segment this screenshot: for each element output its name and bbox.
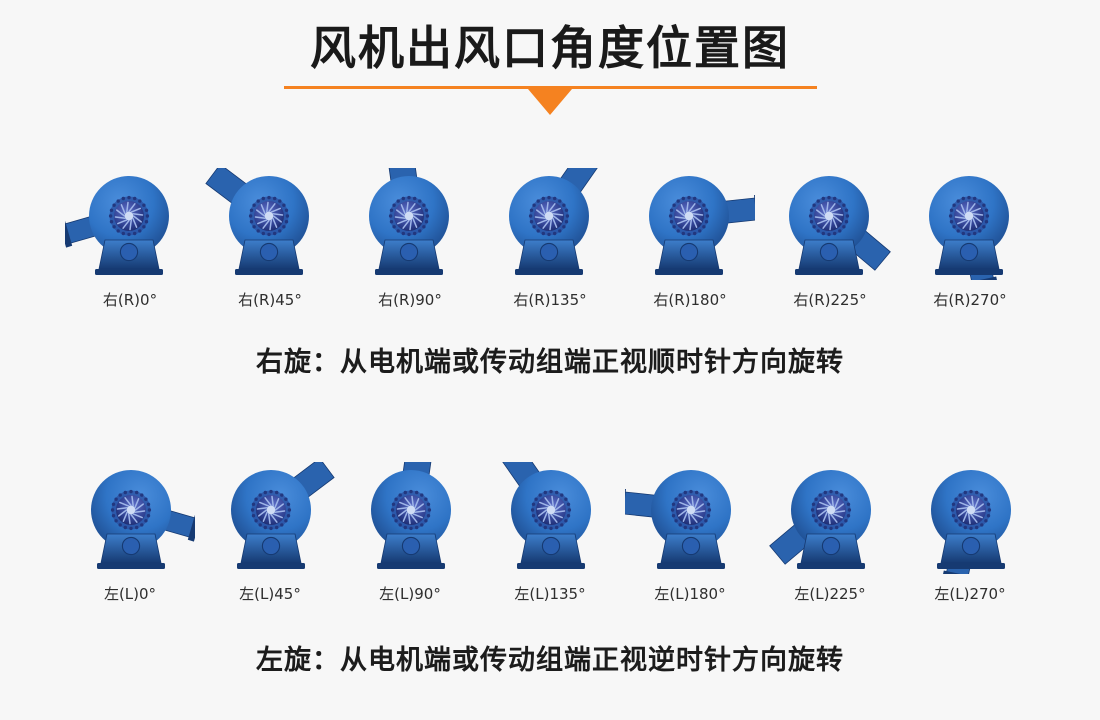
right-rotation-caption: 右旋：从电机端或传动组端正视顺时针方向旋转 <box>0 340 1100 379</box>
fan-angle-label: 左(L)270° <box>934 583 1005 604</box>
fan-cell-right-180: 右(R)180° <box>625 168 755 310</box>
left-rotation-section: 左(L)0° 左(L)45° <box>0 462 1100 677</box>
page-header: 风机出风口角度位置图 <box>0 22 1100 115</box>
fan-cell-left-0: 左(L)0° <box>65 462 195 604</box>
fan-angle-label: 右(R)135° <box>513 289 586 310</box>
centrifugal-fan-icon <box>485 168 615 280</box>
fan-angle-label: 左(L)45° <box>239 583 301 604</box>
fan-angle-label: 右(R)180° <box>653 289 726 310</box>
fan-angle-label: 左(L)225° <box>794 583 865 604</box>
fan-cell-left-270: 左(L)270° <box>905 462 1035 604</box>
fan-cell-right-45: 右(R)45° <box>205 168 335 310</box>
fan-angle-label: 右(R)45° <box>238 289 302 310</box>
left-rotation-fan-strip: 左(L)0° 左(L)45° <box>0 462 1100 604</box>
fan-angle-label: 左(L)180° <box>654 583 725 604</box>
right-rotation-section: 右(R)0° 右(R)45° <box>0 168 1100 379</box>
centrifugal-fan-icon <box>205 462 335 574</box>
fan-angle-label: 右(R)0° <box>103 289 157 310</box>
centrifugal-fan-icon <box>625 168 755 280</box>
centrifugal-fan-icon <box>765 462 895 574</box>
fan-cell-left-135: 左(L)135° <box>485 462 615 604</box>
centrifugal-fan-icon <box>905 168 1035 280</box>
left-rotation-caption: 左旋：从电机端或传动组端正视逆时针方向旋转 <box>0 638 1100 677</box>
centrifugal-fan-icon <box>905 462 1035 574</box>
fan-angle-label: 右(R)225° <box>793 289 866 310</box>
fan-cell-right-225: 右(R)225° <box>765 168 895 310</box>
centrifugal-fan-icon <box>625 462 755 574</box>
fan-angle-label: 左(L)135° <box>514 583 585 604</box>
fan-cell-left-180: 左(L)180° <box>625 462 755 604</box>
fan-cell-right-90: 右(R)90° <box>345 168 475 310</box>
centrifugal-fan-icon <box>65 462 195 574</box>
down-triangle-icon <box>528 89 572 115</box>
fan-cell-left-45: 左(L)45° <box>205 462 335 604</box>
fan-cell-right-270: 右(R)270° <box>905 168 1035 310</box>
fan-angle-label: 右(R)270° <box>933 289 1006 310</box>
fan-cell-left-90: 左(L)90° <box>345 462 475 604</box>
fan-outlet-angle-diagram: 风机出风口角度位置图 <box>0 0 1100 720</box>
fan-cell-left-225: 左(L)225° <box>765 462 895 604</box>
centrifugal-fan-icon <box>205 168 335 280</box>
right-rotation-fan-strip: 右(R)0° 右(R)45° <box>0 168 1100 310</box>
fan-angle-label: 左(L)0° <box>104 583 156 604</box>
centrifugal-fan-icon <box>485 462 615 574</box>
fan-cell-right-135: 右(R)135° <box>485 168 615 310</box>
centrifugal-fan-icon <box>765 168 895 280</box>
fan-cell-right-0: 右(R)0° <box>65 168 195 310</box>
centrifugal-fan-icon <box>345 168 475 280</box>
centrifugal-fan-icon <box>65 168 195 280</box>
fan-angle-label: 右(R)90° <box>378 289 442 310</box>
page-title: 风机出风口角度位置图 <box>0 22 1100 75</box>
fan-angle-label: 左(L)90° <box>379 583 441 604</box>
centrifugal-fan-icon <box>345 462 475 574</box>
